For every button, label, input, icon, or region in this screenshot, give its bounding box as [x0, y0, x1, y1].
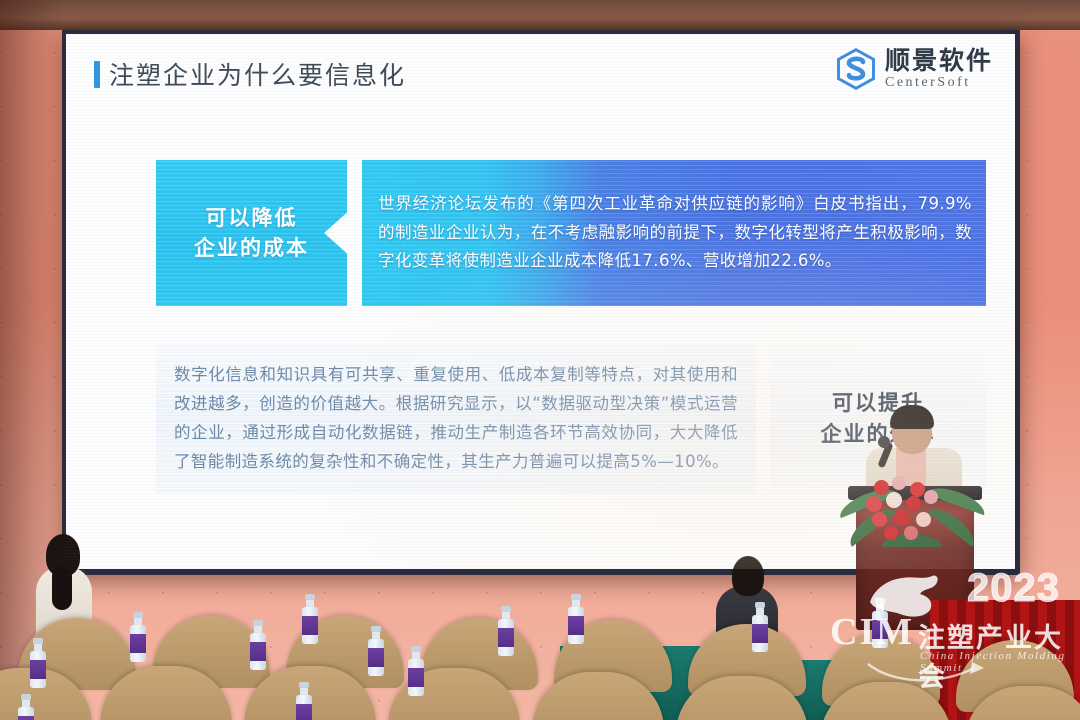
- water-bottle: [408, 646, 424, 696]
- page-title: 注塑企业为什么要信息化: [109, 56, 406, 92]
- brand-logo: 顺景软件 CenterSoft: [835, 48, 993, 90]
- top-content-row: 可以降低 企业的成本 世界经济论坛发布的《第四次工业革命对供应链的影响》白皮书指…: [156, 160, 986, 306]
- watermark-acronym: CIM: [830, 610, 914, 654]
- tag-arrow-gap: [347, 160, 362, 306]
- cost-reduction-tag: 可以降低 企业的成本: [156, 160, 347, 306]
- water-bottle: [368, 626, 384, 676]
- water-bottle: [18, 694, 34, 720]
- cost-tag-line2: 企业的成本: [194, 233, 309, 263]
- water-bottle: [752, 602, 768, 652]
- cost-paragraph-panel: 世界经济论坛发布的《第四次工业革命对供应链的影响》白皮书指出，79.9%的制造业…: [362, 160, 986, 306]
- audience-hair-left: [52, 566, 72, 610]
- cost-paragraph-text: 世界经济论坛发布的《第四次工业革命对供应链的影响》白皮书指出，79.9%的制造业…: [378, 190, 972, 275]
- speaker-hair: [890, 405, 934, 429]
- water-bottle: [130, 612, 146, 662]
- event-watermark: 2023 CIM 注塑产业大会 China Injection Molding …: [826, 564, 1066, 684]
- ceiling-beam: [0, 0, 1080, 30]
- brand-name-cn: 顺景软件: [885, 48, 993, 73]
- arrow-swoosh-icon: [866, 660, 986, 684]
- water-bottle: [250, 620, 266, 670]
- cost-tag-line1: 可以降低: [194, 203, 309, 233]
- water-bottle: [498, 606, 514, 656]
- water-bottle: [568, 594, 584, 644]
- water-bottle: [302, 594, 318, 644]
- brand-name-en: CenterSoft: [885, 76, 993, 90]
- watermark-year: 2023: [967, 566, 1060, 611]
- microphone-head: [878, 436, 890, 448]
- efficiency-paragraph-panel: 数字化信息和知识具有可共享、重复使用、低成本复制等特点，对其使用和改进越多，创造…: [156, 344, 756, 494]
- slide-header: 注塑企业为什么要信息化: [94, 56, 406, 92]
- title-accent-bar: [94, 61, 100, 88]
- centersoft-hex-s-logo-icon: [835, 48, 877, 90]
- audience-head-mid: [732, 556, 764, 596]
- flower-arrangement: [848, 474, 976, 546]
- water-bottle: [296, 682, 312, 720]
- water-bottle: [30, 638, 46, 688]
- efficiency-paragraph-text: 数字化信息和知识具有可共享、重复使用、低成本复制等特点，对其使用和改进越多，创造…: [174, 361, 738, 477]
